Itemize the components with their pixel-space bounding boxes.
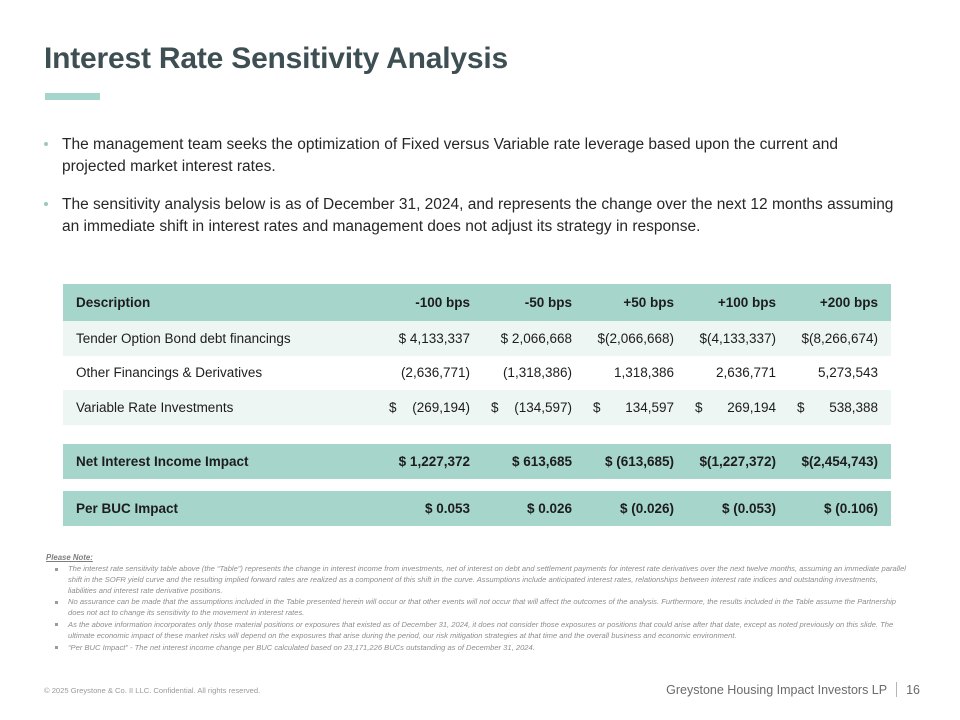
footer-branding: Greystone Housing Impact Investors LP 16 [666, 682, 920, 697]
cell-value: $(2,066,668) [585, 321, 687, 356]
currency-symbol: $ [797, 400, 805, 415]
currency-symbol: $ [593, 400, 601, 415]
currency-symbol: $ [695, 400, 703, 415]
sensitivity-table: Description -100 bps -50 bps +50 bps +10… [63, 284, 891, 425]
footnote-item: The interest rate sensitivity table abov… [46, 564, 906, 596]
page-title: Interest Rate Sensitivity Analysis [44, 42, 508, 76]
currency-symbol: $ [389, 400, 397, 415]
row-label: Tender Option Bond debt financings [63, 321, 381, 356]
column-header-description: Description [63, 284, 381, 321]
square-bullet-icon [55, 601, 58, 604]
cell-value: (2,636,771) [381, 356, 483, 391]
cell-number: (134,597) [514, 400, 572, 415]
footnote-text: As the above information incorporates on… [68, 620, 893, 640]
net-interest-income-impact-row: Net Interest Income Impact $ 1,227,372 $… [63, 444, 891, 479]
square-bullet-icon [55, 568, 58, 571]
footnotes-heading: Please Note: [46, 552, 906, 563]
cell-number: 269,194 [727, 400, 776, 415]
footer-company-name: Greystone Housing Impact Investors LP [666, 683, 887, 697]
cell-value: $ 2,066,668 [483, 321, 585, 356]
cell-number: 538,388 [829, 400, 878, 415]
summary-value: $(2,454,743) [789, 444, 891, 479]
footnote-item: As the above information incorporates on… [46, 620, 906, 642]
table-header: Description -100 bps -50 bps +50 bps +10… [63, 284, 891, 321]
table-row: Other Financings & Derivatives (2,636,77… [63, 356, 891, 391]
summary-value: $ (0.053) [687, 491, 789, 526]
cell-value: $ (134,597) [483, 390, 585, 425]
cell-value: 5,273,543 [789, 356, 891, 391]
row-label: Variable Rate Investments [63, 390, 381, 425]
summary-value: $ 613,685 [483, 444, 585, 479]
summary-value: $ 0.053 [381, 491, 483, 526]
bullet-item: The sensitivity analysis below is as of … [42, 194, 902, 238]
footer-copyright: © 2025 Greystone & Co. II LLC. Confident… [44, 686, 260, 695]
bullet-item: The management team seeks the optimizati… [42, 134, 902, 178]
cell-value: $(4,133,337) [687, 321, 789, 356]
cell-value: (1,318,386) [483, 356, 585, 391]
bullet-dot-icon [44, 202, 48, 206]
footer-divider [896, 682, 897, 697]
cell-value: $ 269,194 [687, 390, 789, 425]
table-header-row: Description -100 bps -50 bps +50 bps +10… [63, 284, 891, 321]
cell-value: $ (269,194) [381, 390, 483, 425]
footnote-item: No assurance can be made that the assump… [46, 597, 906, 619]
summary-label: Per BUC Impact [63, 491, 381, 526]
column-header-minus50: -50 bps [483, 284, 585, 321]
summary-value: $ (613,685) [585, 444, 687, 479]
footnote-item: “Per BUC Impact” - The net interest inco… [46, 643, 906, 654]
table-row: Tender Option Bond debt financings $ 4,1… [63, 321, 891, 356]
summary-value: $ (0.106) [789, 491, 891, 526]
footnote-text: The interest rate sensitivity table abov… [68, 564, 906, 595]
bullet-dot-icon [44, 142, 48, 146]
row-label: Other Financings & Derivatives [63, 356, 381, 391]
cell-value: 1,318,386 [585, 356, 687, 391]
footnotes: Please Note: The interest rate sensitivi… [46, 552, 906, 654]
bullet-text: The sensitivity analysis below is as of … [62, 196, 893, 235]
title-accent-rule [45, 93, 100, 100]
column-header-minus100: -100 bps [381, 284, 483, 321]
per-buc-impact-row: Per BUC Impact $ 0.053 $ 0.026 $ (0.026)… [63, 491, 891, 526]
bullet-list: The management team seeks the optimizati… [42, 134, 902, 254]
cell-number: (269,194) [412, 400, 470, 415]
column-header-plus200: +200 bps [789, 284, 891, 321]
summary-value: $(1,227,372) [687, 444, 789, 479]
column-header-plus50: +50 bps [585, 284, 687, 321]
currency-symbol: $ [491, 400, 499, 415]
footnote-text: No assurance can be made that the assump… [68, 597, 896, 617]
summary-value: $ 0.026 [483, 491, 585, 526]
footer-page-number: 16 [906, 683, 920, 697]
column-header-plus100: +100 bps [687, 284, 789, 321]
square-bullet-icon [55, 623, 58, 626]
footnote-text: “Per BUC Impact” - The net interest inco… [68, 643, 535, 652]
cell-value: 2,636,771 [687, 356, 789, 391]
cell-number: 134,597 [625, 400, 674, 415]
table-body: Tender Option Bond debt financings $ 4,1… [63, 321, 891, 425]
table-row: Variable Rate Investments $ (269,194) $ … [63, 390, 891, 425]
slide: Interest Rate Sensitivity Analysis The m… [0, 0, 960, 720]
cell-value: $ 134,597 [585, 390, 687, 425]
summary-value: $ 1,227,372 [381, 444, 483, 479]
bullet-text: The management team seeks the optimizati… [62, 136, 838, 175]
cell-value: $(8,266,674) [789, 321, 891, 356]
summary-value: $ (0.026) [585, 491, 687, 526]
square-bullet-icon [55, 646, 58, 649]
cell-value: $ 538,388 [789, 390, 891, 425]
summary-label: Net Interest Income Impact [63, 444, 381, 479]
cell-value: $ 4,133,337 [381, 321, 483, 356]
